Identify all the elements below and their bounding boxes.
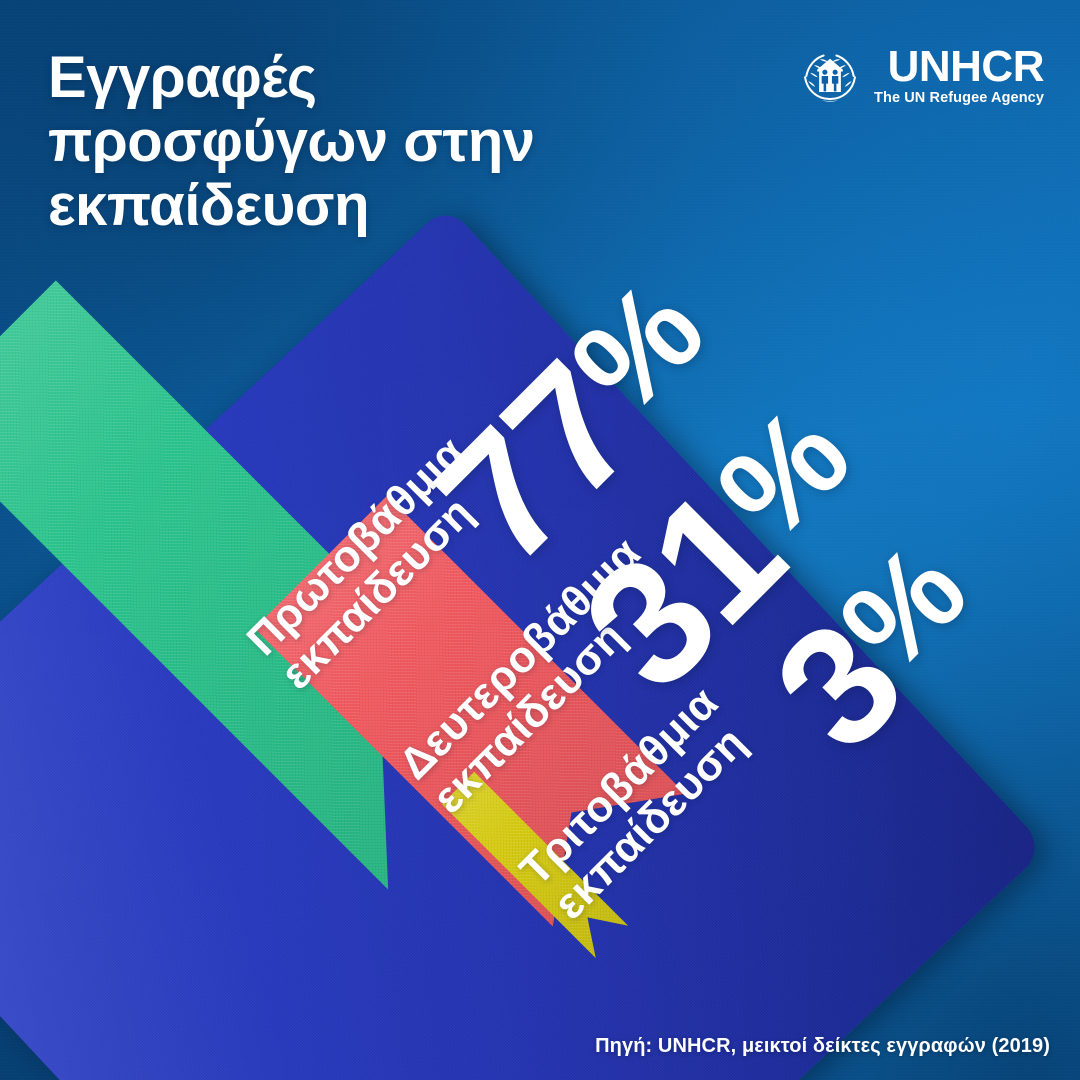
unhcr-tagline: The UN Refugee Agency	[874, 91, 1044, 107]
title-line-2: προσφύγων στην	[48, 110, 648, 174]
title-line-1: Εγγραφές	[48, 46, 648, 110]
unhcr-name: UNHCR	[888, 45, 1044, 88]
infographic-canvas: Πρωτοβάθμια εκπαίδευση Δευτεροβάθμια εκπ…	[0, 0, 1080, 1080]
source-note: Πηγή: UNHCR, μεικτοί δείκτες εγγραφών (2…	[595, 1035, 1050, 1058]
unhcr-logo: UNHCR The UN Refugee Agency	[798, 44, 1044, 108]
page-title: Εγγραφές προσφύγων στην εκπαίδευση	[48, 46, 648, 237]
unhcr-wordmark: UNHCR The UN Refugee Agency	[874, 45, 1044, 107]
title-line-3: εκπαίδευση	[48, 174, 648, 238]
unhcr-emblem-icon	[798, 44, 862, 108]
